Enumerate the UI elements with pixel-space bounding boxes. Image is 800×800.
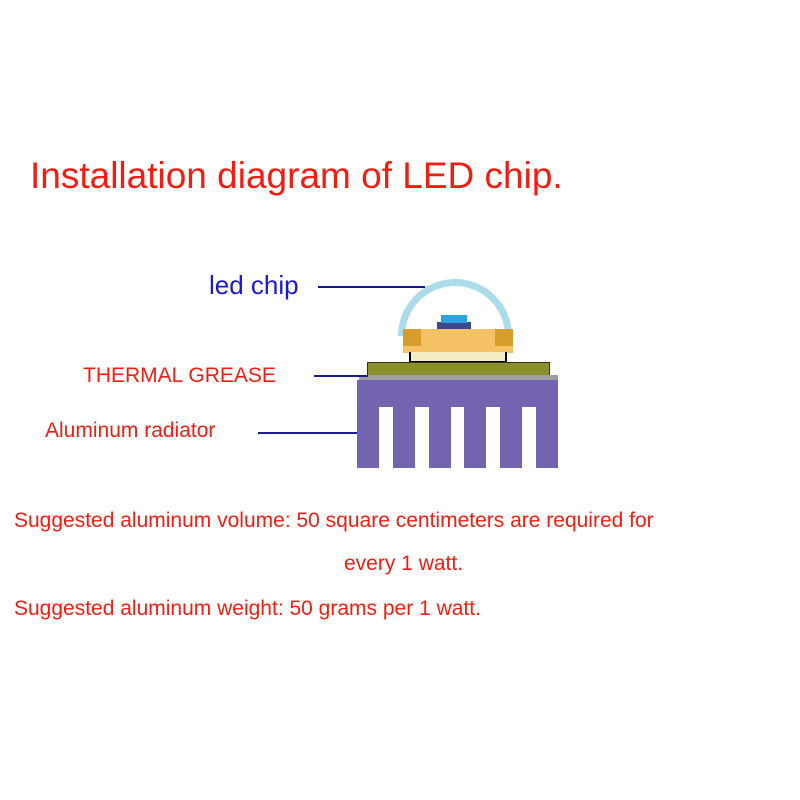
heatsink-fins-group	[357, 407, 558, 468]
callout-label-thermal-grease: THERMAL GREASE	[83, 364, 276, 388]
led-installation-diagram	[0, 0, 800, 800]
leader-line-thermal-grease	[314, 375, 368, 377]
package-shoulder-left-shape	[403, 329, 421, 346]
leader-line-led-chip	[318, 286, 425, 288]
heatsink-fin	[357, 407, 379, 468]
thermal-grease-shape	[367, 362, 550, 376]
diagram-page: Installation diagram of LED chip. led ch…	[0, 0, 800, 800]
package-shoulder-right-shape	[495, 329, 513, 346]
note-line-1: Suggested aluminum volume: 50 square cen…	[14, 509, 654, 533]
callout-label-led-chip: led chip	[209, 270, 299, 301]
leader-line-aluminum-radiator	[258, 432, 357, 434]
note-line-3: Suggested aluminum weight: 50 grams per …	[14, 597, 481, 621]
heatsink-fin	[464, 407, 486, 468]
heatsink-fin	[393, 407, 415, 468]
led-die-top-shape	[441, 315, 467, 323]
heatsink-fin	[500, 407, 522, 468]
heatsink-fin	[536, 407, 558, 468]
callout-label-aluminum-radiator: Aluminum radiator	[45, 419, 215, 443]
heatsink-base-shape	[357, 380, 558, 407]
heatsink-fin	[429, 407, 451, 468]
note-line-2: every 1 watt.	[344, 552, 463, 576]
